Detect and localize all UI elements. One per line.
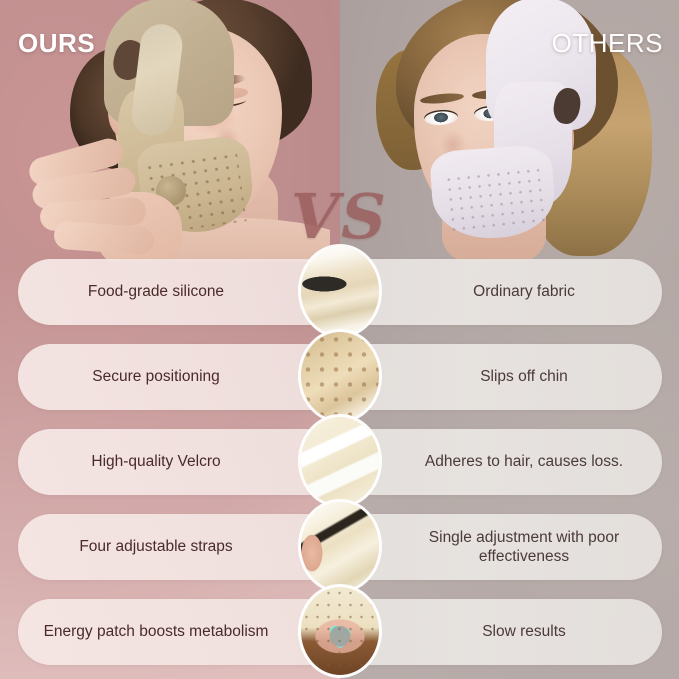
hero-section: VS OURS OTHERS xyxy=(0,0,679,258)
others-feature-pill: Slips off chin xyxy=(340,344,662,410)
thumbnail-perforations xyxy=(301,587,379,675)
others-feature-text: Ordinary fabric xyxy=(473,282,575,301)
hand xyxy=(26,136,174,262)
others-feature-text: Slow results xyxy=(482,622,566,641)
comparison-rows: Food-grade silicone Ordinary fabric Secu… xyxy=(0,250,679,675)
ours-feature-pill: Energy patch boosts metabolism xyxy=(18,599,340,665)
others-feature-pill: Single adjustment with poor effectivenes… xyxy=(340,514,662,580)
ours-feature-text: High-quality Velcro xyxy=(91,452,220,471)
row-thumbnail-hand-holding-straps xyxy=(301,502,379,590)
ours-feature-pill: Secure positioning xyxy=(18,344,340,410)
others-feature-text: Single adjustment with poor effectivenes… xyxy=(386,528,662,567)
ours-feature-text: Secure positioning xyxy=(92,367,220,386)
others-feature-pill: Ordinary fabric xyxy=(340,259,662,325)
others-feature-text: Slips off chin xyxy=(480,367,568,386)
thumbnail-image xyxy=(301,247,379,335)
row-thumbnail-folded-silicone-band xyxy=(301,247,379,335)
ours-feature-text: Four adjustable straps xyxy=(79,537,232,556)
ours-feature-pill: High-quality Velcro xyxy=(18,429,340,495)
comparison-row: High-quality Velcro Adheres to hair, cau… xyxy=(0,420,679,505)
ours-feature-pill: Four adjustable straps xyxy=(18,514,340,580)
ours-feature-pill: Food-grade silicone xyxy=(18,259,340,325)
others-feature-pill: Slow results xyxy=(340,599,662,665)
comparison-row: Secure positioning Slips off chin xyxy=(0,335,679,420)
comparison-row: Food-grade silicone Ordinary fabric xyxy=(0,250,679,335)
comparison-row: Energy patch boosts metabolism Slow resu… xyxy=(0,590,679,675)
thumbnail-image xyxy=(301,417,379,505)
product-comparison-graphic: VS OURS OTHERS Food-grade silicone Ordin… xyxy=(0,0,679,679)
strap-perforations xyxy=(443,165,545,233)
others-feature-text: Adheres to hair, causes loss. xyxy=(425,452,623,471)
ours-feature-text: Energy patch boosts metabolism xyxy=(44,622,269,641)
thumbnail-image xyxy=(301,332,379,420)
ours-header-label: OURS xyxy=(18,28,95,59)
comparison-row: Four adjustable straps Single adjustment… xyxy=(0,505,679,590)
others-header-label: OTHERS xyxy=(552,28,663,59)
row-thumbnail-perforated-band xyxy=(301,332,379,420)
thumbnail-image xyxy=(301,587,379,675)
thumbnail-image xyxy=(301,502,379,590)
ours-feature-text: Food-grade silicone xyxy=(88,282,224,301)
row-thumbnail-energy-patch-led xyxy=(301,587,379,675)
row-thumbnail-velcro-strap xyxy=(301,417,379,505)
others-feature-pill: Adheres to hair, causes loss. xyxy=(340,429,662,495)
